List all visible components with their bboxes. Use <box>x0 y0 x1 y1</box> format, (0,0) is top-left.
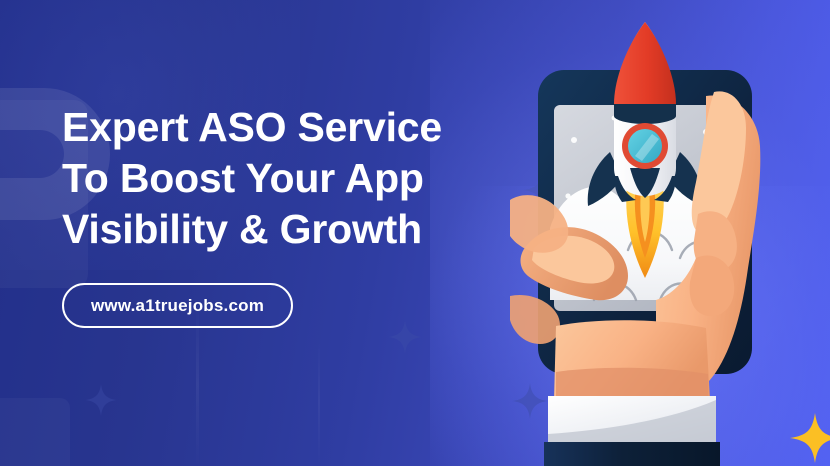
headline-line-1: Expert ASO Service <box>62 102 582 153</box>
background-panel-shape-lower <box>0 398 70 466</box>
rocket-porthole <box>622 123 668 169</box>
shirt-cuff <box>548 396 716 444</box>
background-streak-right <box>318 338 320 466</box>
sparkle-lower-left-icon <box>85 384 117 416</box>
website-url-button[interactable]: www.a1truejobs.com <box>62 283 293 328</box>
headline-line-2: To Boost Your App <box>62 153 582 204</box>
page-title: Expert ASO Service To Boost Your App Vis… <box>62 102 582 255</box>
headline-line-3: Visibility & Growth <box>62 204 582 255</box>
aso-service-promo-banner: Expert ASO Service To Boost Your App Vis… <box>0 0 830 466</box>
suit-sleeve <box>544 442 720 466</box>
headline-block: Expert ASO Service To Boost Your App Vis… <box>62 102 582 328</box>
